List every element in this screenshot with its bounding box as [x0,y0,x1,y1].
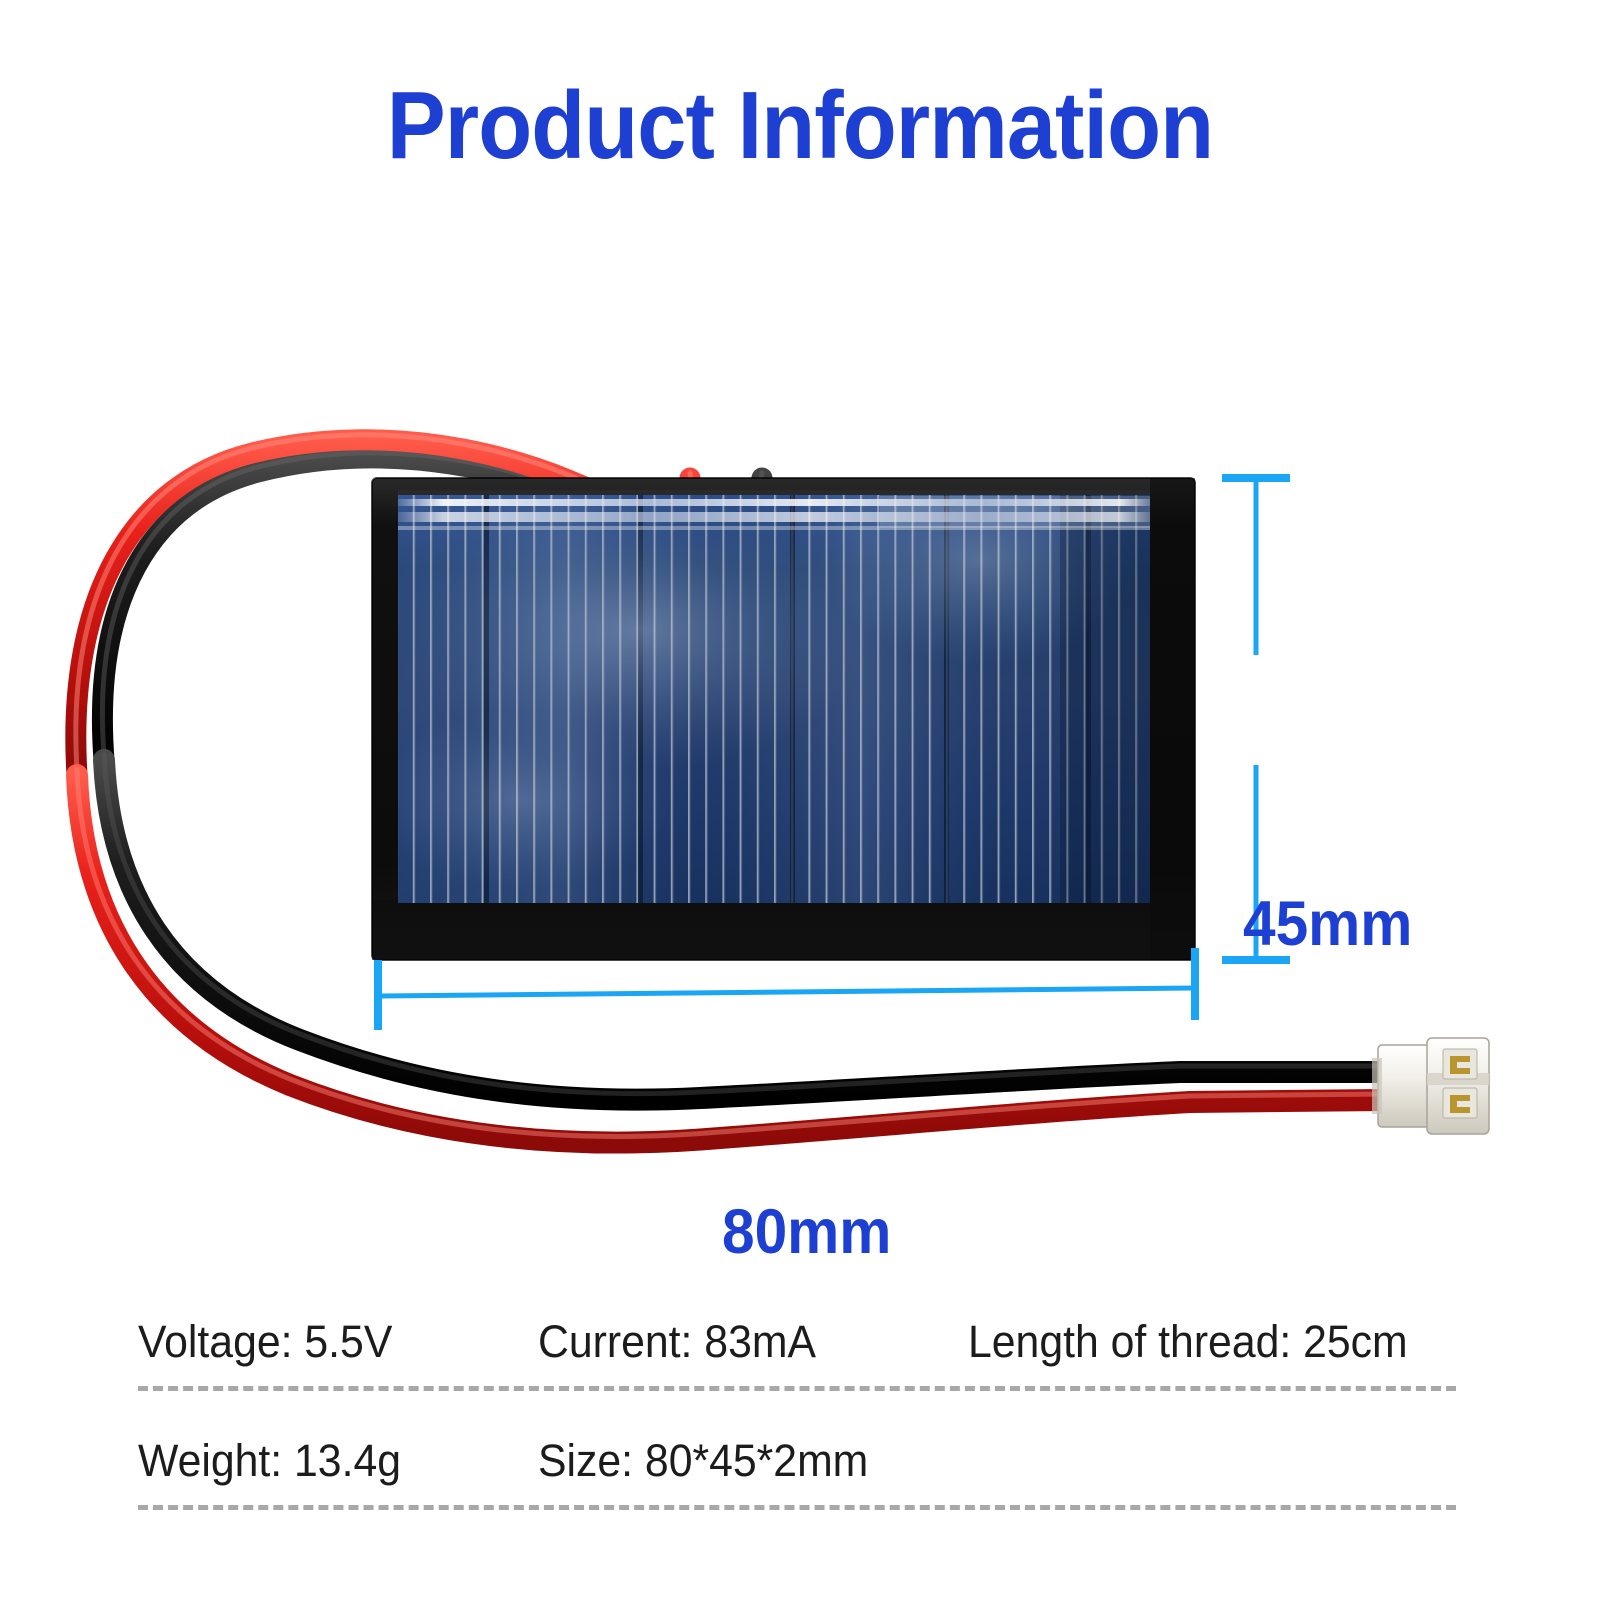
jst-connector [1372,1038,1489,1134]
product-information-page: Product Information [0,0,1600,1600]
page-title: Product Information [64,78,1536,174]
panel-frame-right-shade [1150,478,1195,960]
height-dim-label-mask [1232,655,1532,765]
solar-panel [370,455,1195,960]
connector-back-shell [1378,1045,1430,1127]
spec-voltage: Voltage: 5.5V [138,1319,518,1364]
connector-pin-window-2 [1443,1088,1477,1118]
product-photo: 45mm 80mm [0,200,1600,1240]
spec-row: Voltage: 5.5V Current: 83mA Length of th… [138,1292,1458,1364]
spec-thread-length: Length of thread: 25cm [968,1319,1434,1364]
height-dimension-label: 45mm [1243,888,1412,960]
spec-divider-2 [138,1505,1456,1510]
spec-size: Size: 80*45*2mm [538,1438,947,1483]
connector-pin-window-1 [1443,1049,1477,1079]
spec-row: Weight: 13.4g Size: 80*45*2mm [138,1411,1458,1483]
panel-frame-bottom-shade [372,900,1195,960]
spec-current: Current: 83mA [538,1319,947,1364]
connector-wire-entry [1372,1058,1382,1114]
product-photo-illustration [0,200,1600,1240]
width-dimension-label: 80mm [722,1196,891,1268]
width-dim-line [378,988,1195,996]
spec-weight: Weight: 13.4g [138,1438,518,1483]
specification-table: Voltage: 5.5V Current: 83mA Length of th… [138,1292,1458,1530]
spec-divider-1 [138,1386,1456,1391]
